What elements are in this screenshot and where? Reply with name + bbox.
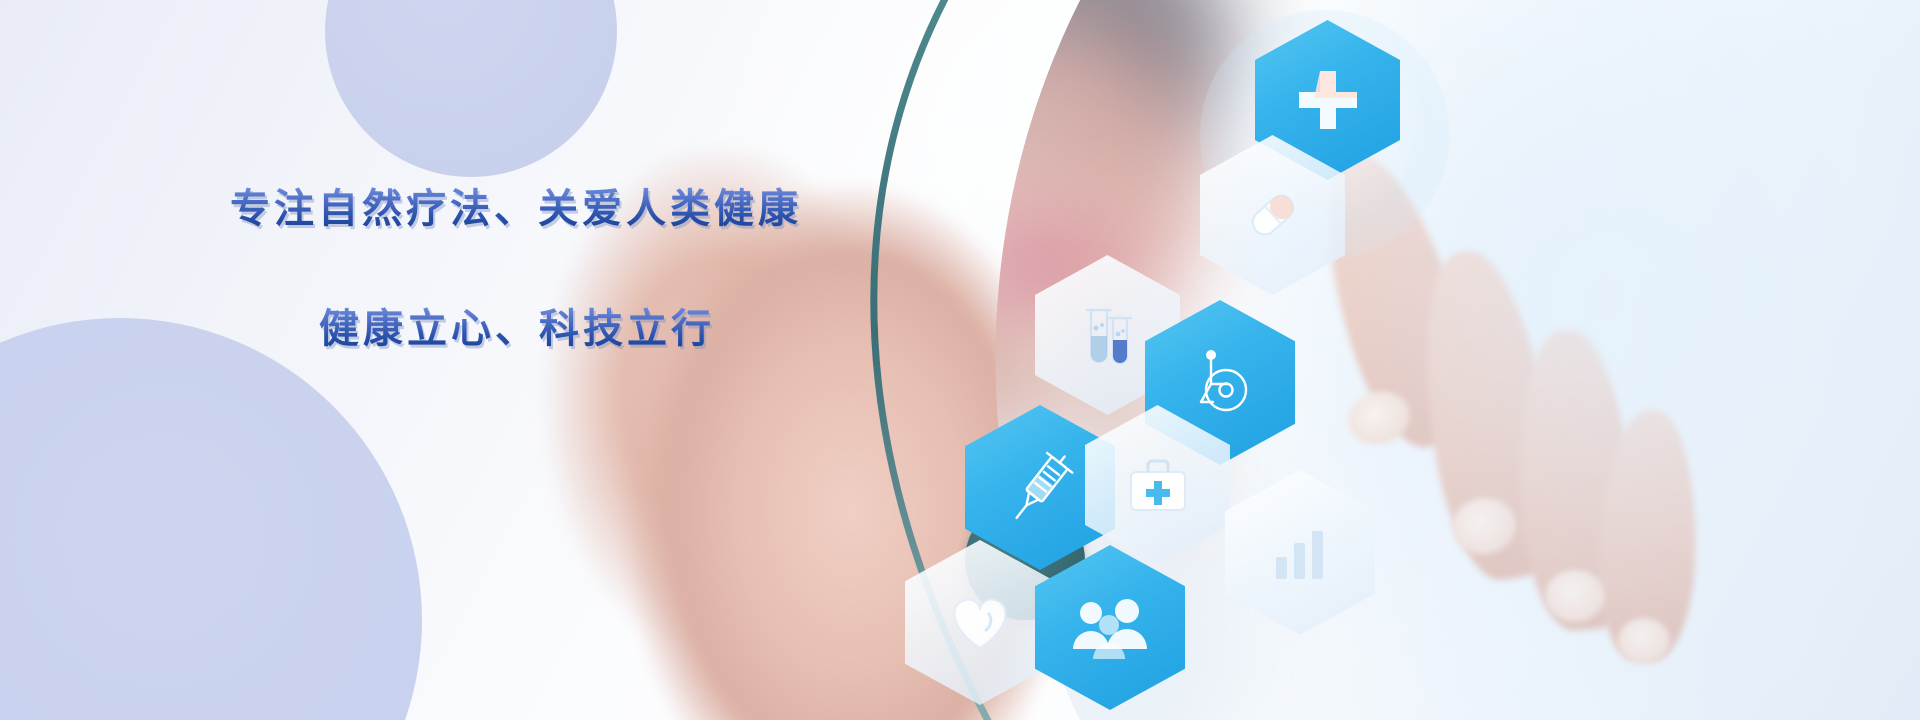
hexagon-icon-cluster [845, 0, 1920, 720]
people-group-icon [1035, 545, 1185, 710]
hero-banner: 专注自然疗法、关爱人类健康 健康立心、科技立行 [0, 0, 1920, 720]
bar-chart-icon [1225, 470, 1375, 635]
lavender-circle-bottom [0, 318, 422, 720]
